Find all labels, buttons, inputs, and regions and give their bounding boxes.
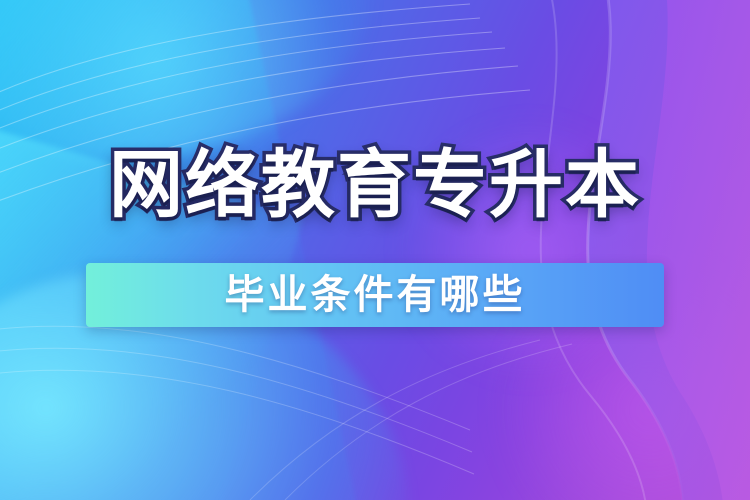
banner-subtitle-bar: 毕业条件有哪些 [86,263,664,327]
promo-banner: 网络教育专升本 毕业条件有哪些 [0,0,750,500]
banner-subtitle: 毕业条件有哪些 [86,263,664,327]
decorative-wave-right [460,0,750,500]
banner-title: 网络教育专升本 [109,148,641,222]
banner-title-container: 网络教育专升本 [0,148,750,222]
